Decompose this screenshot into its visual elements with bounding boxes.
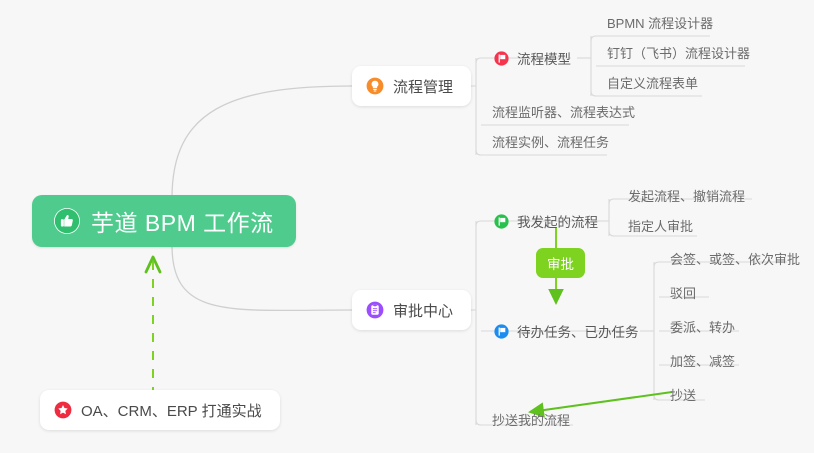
- leaf-label: 委派、转办: [670, 317, 735, 336]
- leaf-label: 会签、或签、依次审批: [670, 249, 800, 268]
- flag-icon-blue: [494, 324, 509, 339]
- leaf-node[interactable]: 驳回: [664, 279, 704, 306]
- edge-tag-approval[interactable]: 审批: [536, 248, 585, 278]
- leaf-node[interactable]: 钉钉（飞书）流程设计器: [601, 39, 758, 66]
- callout-label: OA、CRM、ERP 打通实战: [81, 400, 262, 421]
- leaf-label: 驳回: [670, 283, 696, 302]
- leaf-node[interactable]: 流程实例、流程任务: [486, 128, 617, 155]
- flag-icon-green: [494, 214, 509, 229]
- leaf-node[interactable]: 抄送我的流程: [486, 406, 578, 433]
- star-icon: [54, 401, 72, 419]
- leaf-node[interactable]: 委派、转办: [664, 313, 743, 340]
- node-todo-done-tasks[interactable]: 待办任务、已办任务: [494, 320, 639, 342]
- leaf-label: BPMN 流程设计器: [607, 13, 713, 32]
- leaf-node[interactable]: 会签、或签、依次审批: [664, 245, 808, 272]
- leaf-label: 发起流程、撤销流程: [628, 186, 745, 205]
- leaf-label: 抄送我的流程: [492, 410, 570, 429]
- leaf-node[interactable]: 流程监听器、流程表达式: [486, 98, 643, 125]
- root-node[interactable]: 芋道 BPM 工作流: [32, 195, 296, 247]
- node-my-started-flows[interactable]: 我发起的流程: [494, 210, 598, 232]
- flag-icon-red: [494, 51, 509, 66]
- mindmap-canvas: 芋道 BPM 工作流 OA、CRM、ERP 打通实战 流程管理: [0, 0, 814, 453]
- leaf-node[interactable]: BPMN 流程设计器: [601, 9, 721, 36]
- leaf-label: 自定义流程表单: [607, 73, 698, 92]
- leaf-node[interactable]: 指定人审批: [622, 212, 701, 239]
- leaf-label: 流程监听器、流程表达式: [492, 102, 635, 121]
- branch-label: 审批中心: [393, 300, 453, 321]
- leaf-label: 抄送: [670, 385, 696, 404]
- callout-node-oa-crm-erp[interactable]: OA、CRM、ERP 打通实战: [40, 390, 280, 430]
- leaf-label: 流程实例、流程任务: [492, 132, 609, 151]
- node-label: 流程模型: [517, 48, 571, 68]
- leaf-label: 指定人审批: [628, 216, 693, 235]
- node-label: 我发起的流程: [517, 211, 598, 231]
- root-label: 芋道 BPM 工作流: [91, 204, 274, 238]
- branch-node-approval-center[interactable]: 审批中心: [352, 290, 471, 330]
- leaf-label: 加签、减签: [670, 351, 735, 370]
- edge-tag-label: 审批: [547, 253, 574, 273]
- leaf-node[interactable]: 发起流程、撤销流程: [622, 182, 753, 209]
- node-label: 待办任务、已办任务: [517, 321, 639, 341]
- leaf-node[interactable]: 加签、减签: [664, 347, 743, 374]
- leaf-label: 钉钉（飞书）流程设计器: [607, 43, 750, 62]
- branch-label: 流程管理: [393, 76, 453, 97]
- node-process-model[interactable]: 流程模型: [494, 47, 571, 69]
- branch-node-process-management[interactable]: 流程管理: [352, 66, 471, 106]
- leaf-node[interactable]: 自定义流程表单: [601, 69, 706, 96]
- clipboard-icon: [366, 301, 384, 319]
- lightbulb-icon: [366, 77, 384, 95]
- thumbs-up-icon: [54, 208, 80, 234]
- leaf-node[interactable]: 抄送: [664, 381, 704, 408]
